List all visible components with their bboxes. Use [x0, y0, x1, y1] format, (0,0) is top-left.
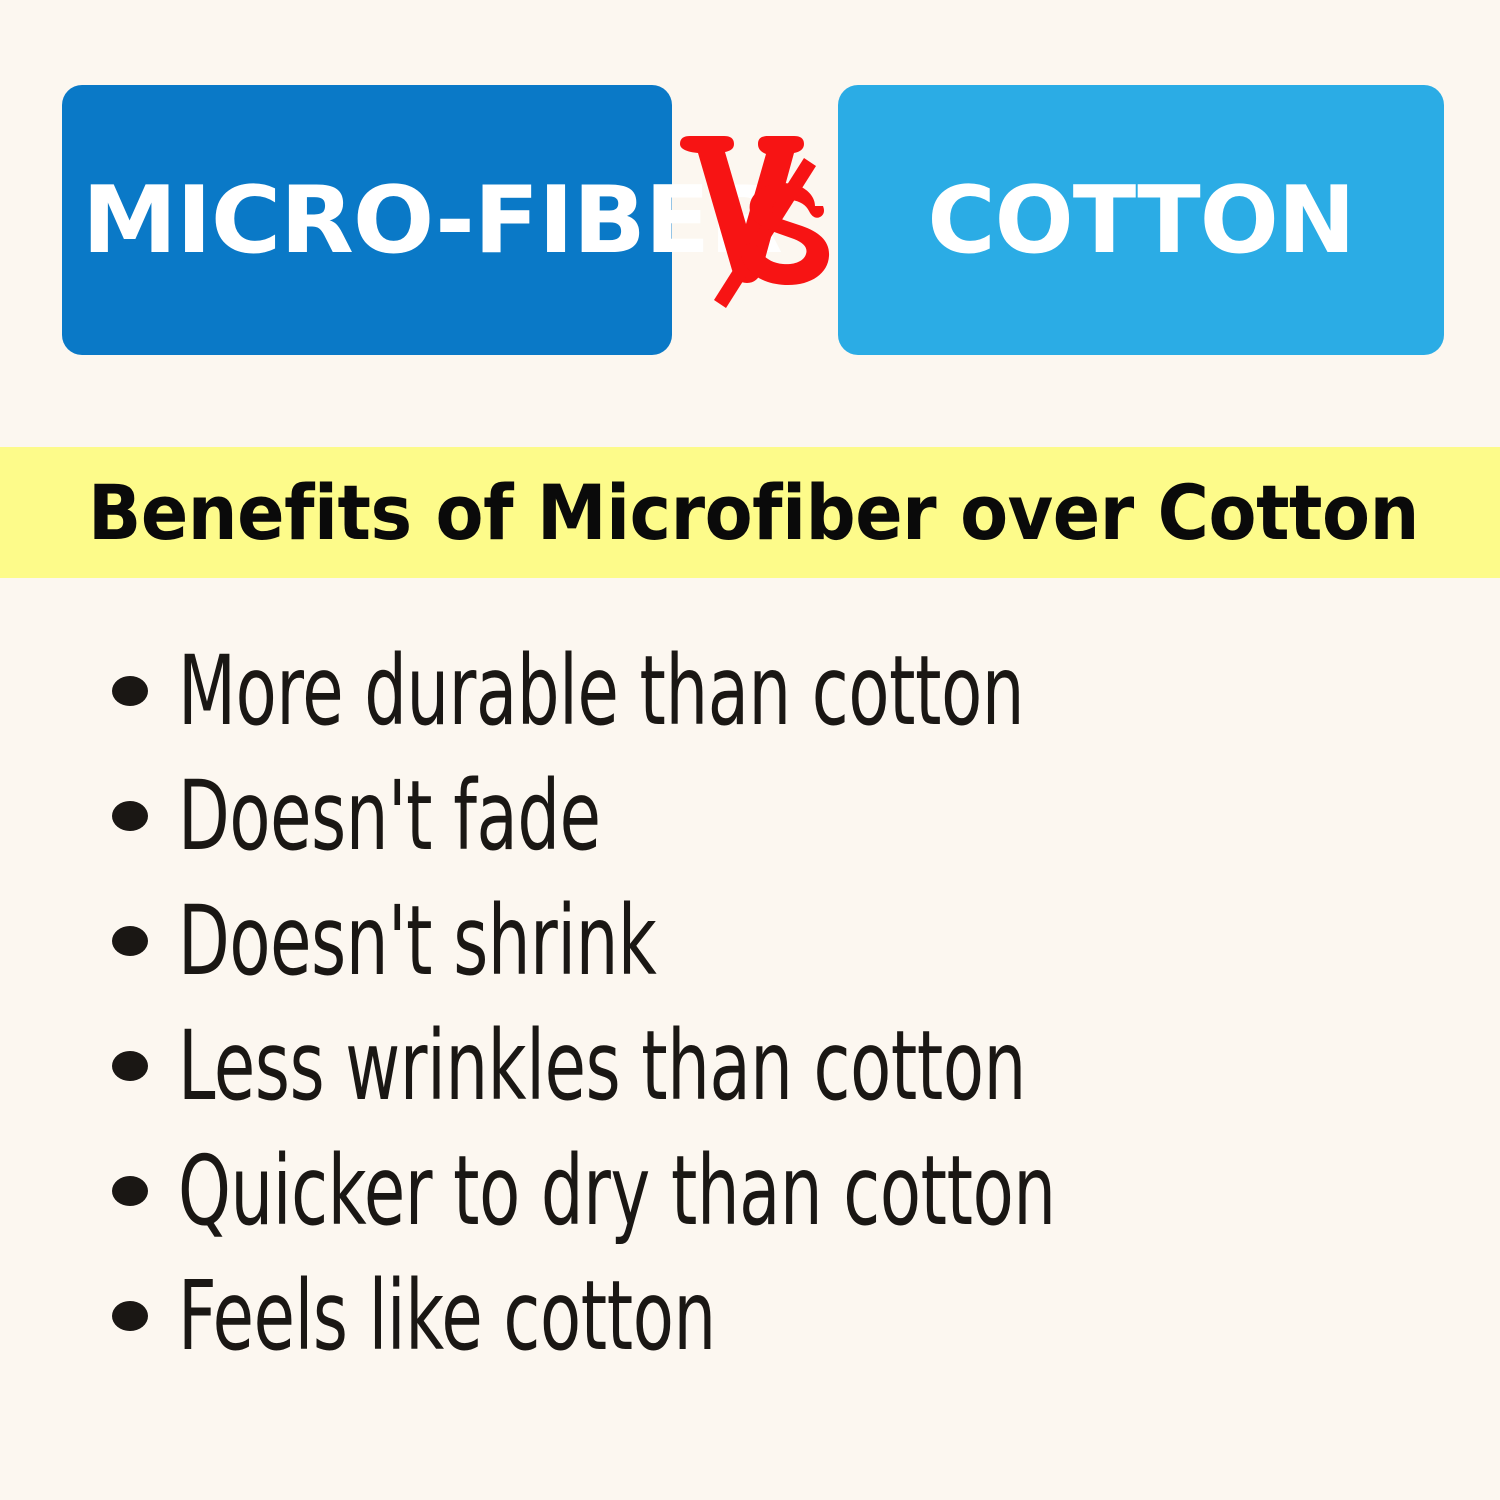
list-item: Less wrinkles than cotton [0, 1003, 1500, 1128]
bullet-dot-icon [112, 1176, 148, 1206]
bullet-dot-icon [112, 926, 148, 956]
bullet-dot-icon [112, 676, 148, 706]
bullet-dot-icon [112, 1301, 148, 1331]
list-item-label: Quicker to dry than cotton [178, 1143, 1056, 1239]
list-item: Feels like cotton [0, 1253, 1500, 1378]
headline-title: Benefits of Microfiber over Cotton [88, 475, 1419, 551]
headline-band: Benefits of Microfiber over Cotton [0, 447, 1500, 578]
versus-icon [676, 128, 836, 318]
list-item: More durable than cotton [0, 628, 1500, 753]
list-item-label: Doesn't shrink [178, 893, 656, 989]
bullet-dot-icon [112, 1051, 148, 1081]
list-item: Doesn't fade [0, 753, 1500, 878]
list-item-label: More durable than cotton [178, 643, 1024, 739]
list-item-label: Less wrinkles than cotton [178, 1018, 1026, 1114]
list-item-label: Doesn't fade [178, 768, 601, 864]
infographic-page: MICRO-FIBER COTTON Benefits of Microfibe… [0, 0, 1500, 1500]
list-item-label: Feels like cotton [178, 1268, 716, 1364]
benefits-list: More durable than cotton Doesn't fade Do… [0, 628, 1500, 1378]
banner-cotton-label: COTTON [927, 174, 1354, 267]
bullet-dot-icon [112, 801, 148, 831]
comparison-header: MICRO-FIBER COTTON [0, 0, 1500, 440]
banner-cotton: COTTON [838, 85, 1444, 355]
list-item: Quicker to dry than cotton [0, 1128, 1500, 1253]
banner-microfiber: MICRO-FIBER [62, 85, 672, 355]
list-item: Doesn't shrink [0, 878, 1500, 1003]
